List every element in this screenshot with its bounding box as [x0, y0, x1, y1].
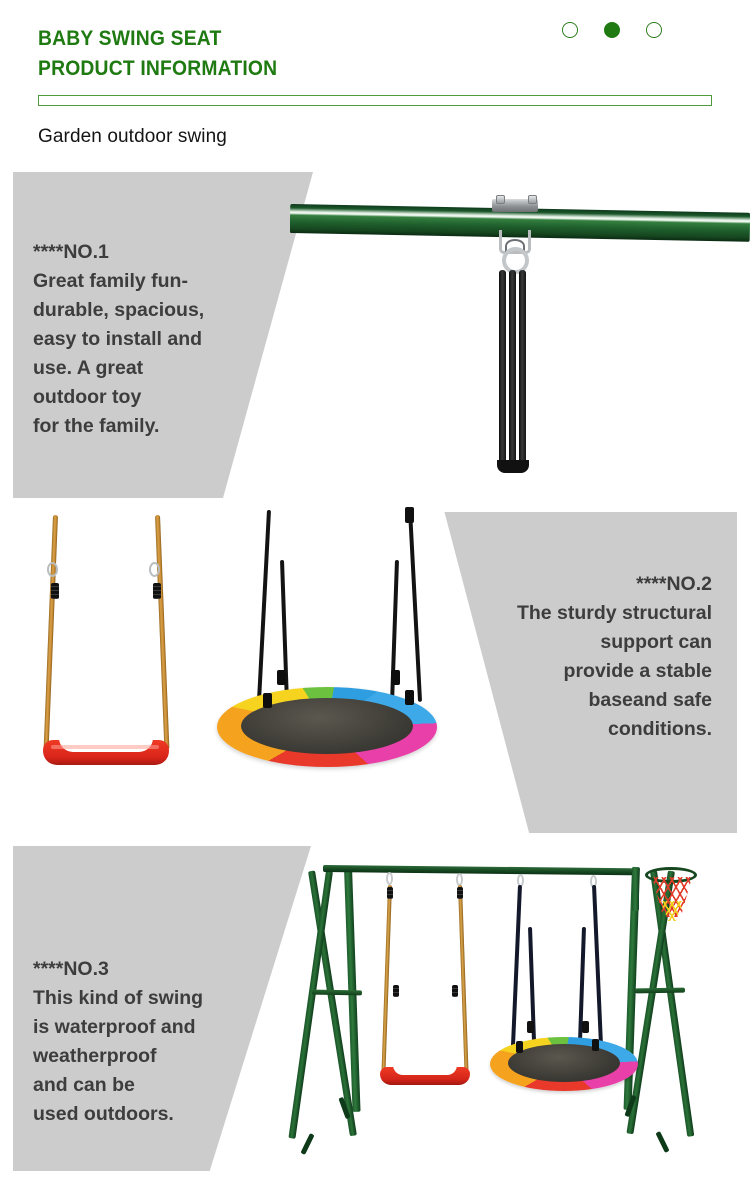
ground-stake-3: [655, 1131, 669, 1153]
belt-swing-rope-right: [155, 515, 169, 750]
pagination-dots: [556, 22, 676, 42]
full-a-frame-swing-set-photo: [280, 845, 750, 1175]
frame-brace-left: [312, 990, 362, 996]
belt-swing-rope-left: [44, 515, 58, 750]
dot-2-icon[interactable]: [604, 22, 620, 38]
frame-brace-right: [635, 988, 685, 994]
rainbow-nest-swing-photo: [205, 505, 445, 795]
black-strap-2: [509, 270, 516, 470]
nest-top-buckle: [405, 507, 414, 523]
set-rope-grip-top-right: [457, 887, 463, 899]
page-subtitle: Garden outdoor swing: [38, 126, 227, 148]
page-header: BABY SWING SEAT PRODUCT INFORMATION Gard…: [0, 0, 750, 165]
set-belt-rope-left: [381, 885, 392, 1073]
set-nest-mesh-center: [508, 1044, 620, 1082]
carabiner-right-icon: [149, 562, 160, 577]
feature-text-no-2: ****NO.2 The sturdy structural support c…: [430, 570, 712, 744]
set-belt-rope-right: [458, 885, 469, 1073]
set-nest-strap-3: [592, 885, 603, 1045]
feature-text-no-3: ****NO.3 This kind of swing is waterproo…: [33, 955, 203, 1129]
header-divider-bar: [38, 95, 712, 106]
rope-grip-right: [153, 583, 161, 599]
strap-bottom-loop: [497, 460, 529, 473]
set-nest-strap-1: [511, 885, 522, 1047]
bolt-right-icon: [528, 195, 537, 204]
page-title: BABY SWING SEAT PRODUCT INFORMATION: [38, 24, 298, 84]
set-nest-buckle-4: [582, 1021, 589, 1033]
nest-buckle-1: [263, 693, 272, 708]
set-rope-grip-mid-right: [452, 985, 458, 997]
set-rope-grip-mid-left: [393, 985, 399, 997]
nest-buckle-2: [405, 690, 414, 705]
frame-top-bar: [323, 865, 633, 875]
black-strap-1: [499, 270, 506, 470]
set-seat-curve-cutout: [393, 1065, 457, 1075]
nest-strap-1: [257, 510, 271, 705]
basketball-hoop-arm: [632, 871, 639, 911]
nest-buckle-3: [277, 670, 286, 685]
seat-highlight: [51, 745, 159, 749]
set-nest-buckle-3: [527, 1021, 534, 1033]
product-information-page: BABY SWING SEAT PRODUCT INFORMATION Gard…: [0, 0, 750, 1200]
red-belt-swing-photo: [15, 505, 235, 795]
dot-1-icon[interactable]: [562, 22, 578, 38]
feature-text-no-1: ****NO.1 Great family fun- durable, spac…: [33, 238, 204, 441]
nest-strap-3: [408, 510, 422, 702]
set-rope-grip-top-left: [387, 887, 393, 899]
nest-strap-2: [280, 560, 289, 708]
rope-grip-left: [51, 583, 59, 599]
carabiner-left-icon: [47, 562, 58, 577]
ground-stake-1: [300, 1133, 314, 1155]
swing-beam-hanging-strap-photo: [290, 175, 750, 505]
dot-3-icon[interactable]: [646, 22, 662, 38]
frame-leg-back-left: [288, 871, 333, 1139]
title-line-1: BABY SWING SEAT: [38, 24, 277, 54]
set-nest-buckle-2: [592, 1039, 599, 1051]
black-strap-3: [519, 270, 526, 470]
nest-buckle-4: [391, 670, 400, 685]
title-line-2: PRODUCT INFORMATION: [38, 54, 277, 84]
hook-1-icon: [386, 872, 393, 885]
bolt-left-icon: [496, 195, 505, 204]
set-nest-buckle-1: [516, 1041, 523, 1053]
nest-strap-4: [390, 560, 399, 708]
